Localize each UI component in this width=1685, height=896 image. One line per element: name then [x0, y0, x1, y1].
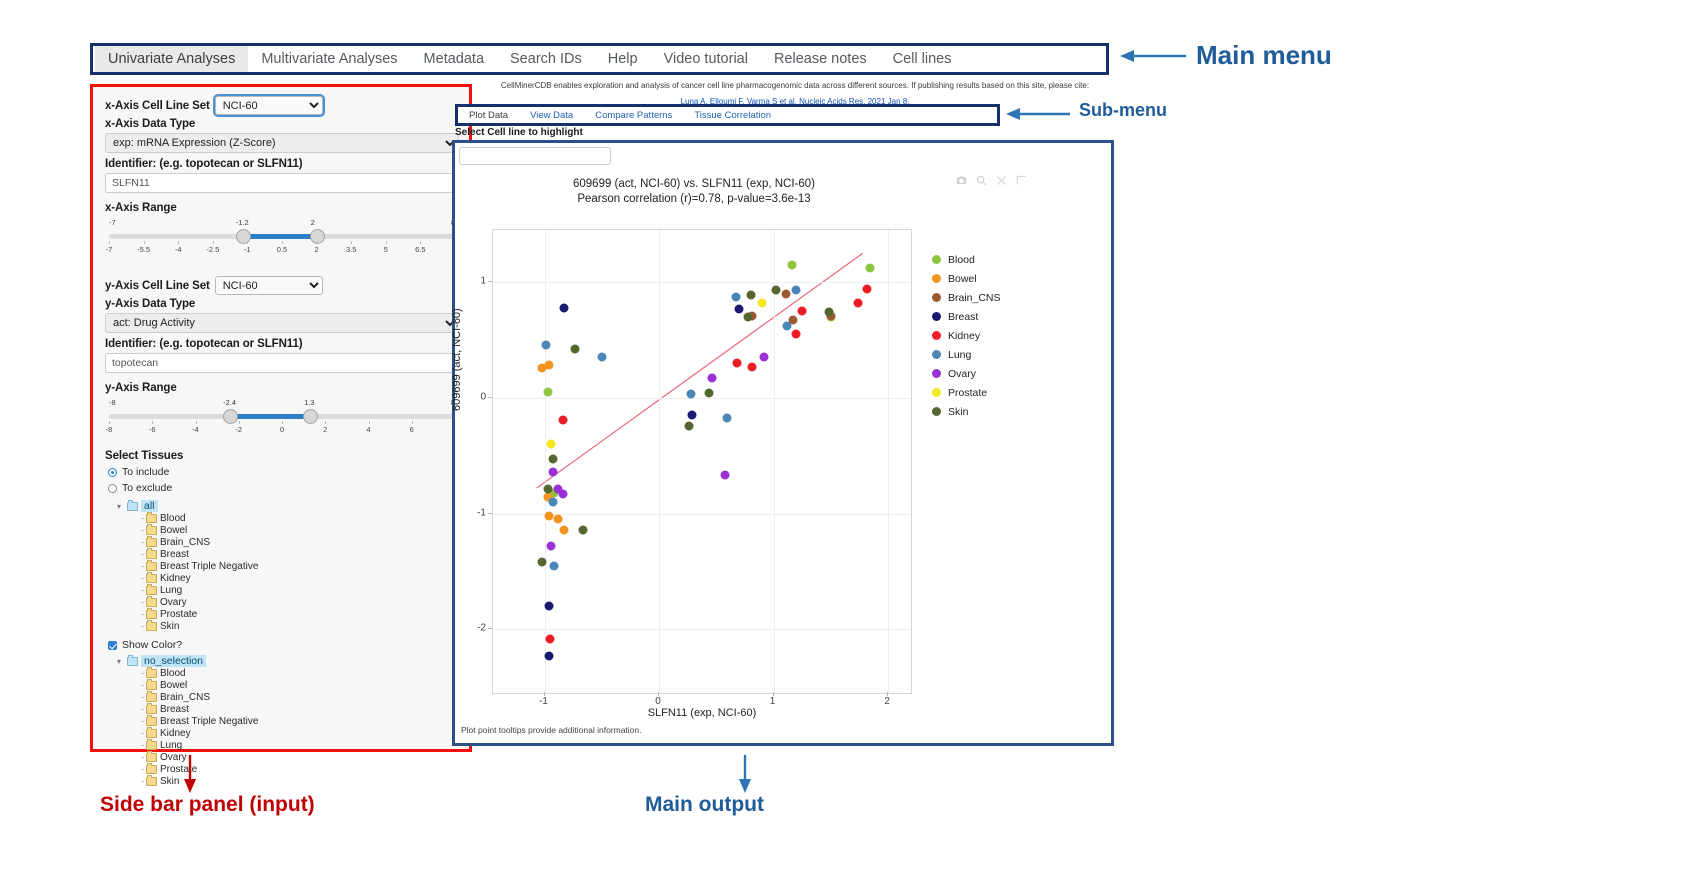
data-point-skin[interactable] [543, 485, 552, 494]
tree-root-label: all [141, 500, 158, 512]
folder-icon [146, 538, 157, 547]
arrow-sub-menu-icon [1006, 104, 1072, 124]
cell-line-highlight-input[interactable] [459, 147, 611, 165]
tree-branch-icon: - [141, 561, 143, 571]
x-axis-range-slider[interactable]: -78-1.22-7-5.5-4-2.5-10.523.556.58 [105, 218, 459, 262]
select-tissues-title: Select Tissues [105, 450, 459, 462]
x-axis-data-type-label: x-Axis Data Type [105, 118, 459, 130]
slider-tick-label: -4 [192, 425, 199, 434]
data-point-ovary[interactable] [760, 353, 769, 362]
y-tick-label: 0 [464, 391, 486, 402]
legend-color-swatch [932, 407, 941, 416]
data-point-lung[interactable] [783, 322, 792, 331]
x-tick-label: 0 [655, 696, 661, 707]
data-point-kidney[interactable] [546, 634, 555, 643]
x-tick-mark [544, 692, 545, 696]
tree-branch-icon: - [141, 740, 143, 750]
data-point-lung[interactable] [687, 390, 696, 399]
data-point-breast[interactable] [545, 651, 554, 660]
plot-area [492, 229, 912, 694]
menu-item-search-ids[interactable]: Search IDs [497, 46, 595, 72]
tree-item-label: Bowel [160, 525, 187, 536]
tree-branch-icon: - [141, 609, 143, 619]
sub-menu-item-compare-patterns[interactable]: Compare Patterns [584, 110, 683, 121]
tree-branch-icon: - [141, 549, 143, 559]
data-point-blood[interactable] [865, 264, 874, 273]
data-point-kidney[interactable] [747, 362, 756, 371]
slider-tick-label: -2 [235, 425, 242, 434]
x-tick-label: 1 [770, 696, 776, 707]
data-point-skin[interactable] [771, 286, 780, 295]
legend-item-breast[interactable]: Breast [932, 307, 1001, 326]
legend-color-swatch [932, 274, 941, 283]
folder-icon [146, 514, 157, 523]
y-axis-data-type-label: y-Axis Data Type [105, 298, 459, 310]
tree-branch-icon: - [141, 573, 143, 583]
data-point-skin[interactable] [571, 345, 580, 354]
legend-color-swatch [932, 255, 941, 264]
legend-label: Brain_CNS [948, 292, 1001, 304]
x-axis-identifier-input[interactable] [105, 173, 459, 193]
main-menu-bar: Univariate AnalysesMultivariate Analyses… [90, 43, 1109, 75]
legend-item-kidney[interactable]: Kidney [932, 326, 1001, 345]
tree-item-blood[interactable]: -Blood [141, 667, 459, 679]
x-axis-cell-line-set-row: x-Axis Cell Line Set NCI-60 [105, 96, 459, 115]
x-axis-identifier-label: Identifier: (e.g. topotecan or SLFN11) [105, 158, 459, 170]
slider-tick-label: 0.5 [277, 245, 287, 254]
folder-icon [146, 753, 157, 762]
tree-root-label: no_selection [141, 655, 206, 667]
y-axis-cell-line-set-select[interactable]: NCI-60 [215, 276, 323, 295]
tissue-tree[interactable]: ▾all-Blood-Bowel-Brain_CNS-Breast-Breast… [117, 500, 459, 632]
data-point-bowel[interactable] [545, 361, 554, 370]
tree-branch-icon: - [141, 776, 143, 786]
data-point-breast[interactable] [688, 411, 697, 420]
tree-item-label: Breast Triple Negative [160, 716, 258, 727]
tree-item-label: Skin [160, 776, 179, 787]
x-tick-label: 2 [884, 696, 890, 707]
tree-item-breast[interactable]: -Breast [141, 548, 459, 560]
folder-icon [146, 741, 157, 750]
radio-include-icon [108, 468, 117, 477]
folder-icon [146, 562, 157, 571]
folder-icon [146, 765, 157, 774]
tree-item-label: Blood [160, 668, 186, 679]
legend-color-swatch [932, 369, 941, 378]
tree-item-kidney[interactable]: -Kidney [141, 572, 459, 584]
folder-icon [146, 586, 157, 595]
data-point-lung[interactable] [722, 413, 731, 422]
tissue-tree-root[interactable]: ▾all [117, 500, 459, 512]
data-point-prostate[interactable] [547, 440, 556, 449]
data-point-skin[interactable] [538, 558, 547, 567]
folder-icon [146, 598, 157, 607]
tree-item-lung[interactable]: -Lung [141, 739, 459, 751]
tree-branch-icon: - [141, 597, 143, 607]
tree-item-breast-triple-negative[interactable]: -Breast Triple Negative [141, 560, 459, 572]
x-tick-mark [773, 692, 774, 696]
legend-color-swatch [932, 350, 941, 359]
show-color-checkbox[interactable]: Show Color? [108, 639, 459, 651]
scatter-plot: 609699 (act, NCI-60) vs. SLFN11 (exp, NC… [459, 171, 1107, 716]
data-point-skin[interactable] [746, 290, 755, 299]
tree-branch-icon: - [141, 680, 143, 690]
folder-icon [146, 669, 157, 678]
slider-tick-label: 3.5 [346, 245, 356, 254]
data-point-kidney[interactable] [798, 307, 807, 316]
data-point-ovary[interactable] [548, 467, 557, 476]
tree-item-kidney[interactable]: -Kidney [141, 727, 459, 739]
legend-label: Blood [948, 254, 975, 266]
data-point-blood[interactable] [543, 388, 552, 397]
tree-item-brain_cns[interactable]: -Brain_CNS [141, 536, 459, 548]
sub-menu-item-view-data[interactable]: View Data [519, 110, 584, 121]
data-point-breast[interactable] [560, 303, 569, 312]
folder-icon [127, 657, 138, 666]
folder-icon [146, 610, 157, 619]
tissue-include-label: To include [122, 466, 169, 478]
slider-tick-label: -5.5 [137, 245, 150, 254]
slider-tick-label: 6.5 [415, 245, 425, 254]
data-point-breast[interactable] [735, 304, 744, 313]
y-axis-cell-line-set-row: y-Axis Cell Line Set NCI-60 [105, 276, 459, 295]
tree-branch-icon: - [141, 621, 143, 631]
slider-fill [230, 414, 310, 419]
plot-title: 609699 (act, NCI-60) vs. SLFN11 (exp, NC… [459, 177, 929, 207]
tissue-include-radio[interactable]: To include [108, 466, 459, 478]
sub-menu-bar: Plot DataView DataCompare PatternsTissue… [455, 104, 1000, 126]
y-tick-mark [488, 281, 492, 282]
tree-branch-icon: - [141, 764, 143, 774]
data-point-ovary[interactable] [547, 541, 556, 550]
plot-note: Plot point tooltips provide additional i… [461, 725, 642, 735]
legend-item-ovary[interactable]: Ovary [932, 364, 1001, 383]
y-axis-data-type-select[interactable]: act: Drug Activity [105, 313, 459, 333]
sidebar-panel: x-Axis Cell Line Set NCI-60 x-Axis Data … [90, 84, 472, 752]
select-cell-line-label: Select Cell line to highlight [455, 127, 583, 138]
annotation-sidebar: Side bar panel (input) [100, 793, 315, 817]
tree-item-breast-triple-negative[interactable]: -Breast Triple Negative [141, 715, 459, 727]
legend-color-swatch [932, 388, 941, 397]
tree-item-ovary[interactable]: -Ovary [141, 596, 459, 608]
tree-branch-icon: - [141, 692, 143, 702]
data-point-skin[interactable] [705, 389, 714, 398]
slider-min-label: -7 [109, 218, 116, 227]
slider-tick-label: -1 [244, 245, 251, 254]
data-point-ovary[interactable] [721, 471, 730, 480]
tree-item-label: Kidney [160, 573, 191, 584]
slider-tick-label: -4 [175, 245, 182, 254]
legend-color-swatch [932, 312, 941, 321]
legend-label: Bowel [948, 273, 977, 285]
legend-item-brain_cns[interactable]: Brain_CNS [932, 288, 1001, 307]
legend-item-bowel[interactable]: Bowel [932, 269, 1001, 288]
slider-tick-label: -2.5 [206, 245, 219, 254]
folder-icon [146, 526, 157, 535]
tree-item-bowel[interactable]: -Bowel [141, 679, 459, 691]
tree-item-label: Bowel [160, 680, 187, 691]
y-tick-mark [488, 397, 492, 398]
slider-tick-label: 0 [280, 425, 284, 434]
tree-item-prostate[interactable]: -Prostate [141, 608, 459, 620]
folder-icon [146, 777, 157, 786]
legend-label: Skin [948, 406, 968, 418]
legend-color-swatch [932, 293, 941, 302]
y-axis-identifier-input[interactable] [105, 353, 459, 373]
tree-item-label: Lung [160, 740, 182, 751]
slider-value-low: -1.2 [236, 218, 249, 227]
slider-value-low: -2.4 [223, 398, 236, 407]
data-point-kidney[interactable] [792, 330, 801, 339]
color-tree-root[interactable]: ▾no_selection [117, 655, 459, 667]
x-axis-range-label: x-Axis Range [105, 202, 459, 214]
y-axis-identifier-label: Identifier: (e.g. topotecan or SLFN11) [105, 338, 459, 350]
plot-modebar[interactable] [956, 175, 1027, 186]
tree-item-brain_cns[interactable]: -Brain_CNS [141, 691, 459, 703]
tissue-exclude-label: To exclude [122, 482, 172, 494]
plot-legend[interactable]: BloodBowelBrain_CNSBreastKidneyLungOvary… [932, 250, 1001, 421]
data-point-lung[interactable] [548, 498, 557, 507]
sub-menu-item-plot-data[interactable]: Plot Data [458, 110, 519, 121]
data-point-prostate[interactable] [758, 298, 767, 307]
tree-item-label: Prostate [160, 609, 197, 620]
tree-item-bowel[interactable]: -Bowel [141, 524, 459, 536]
slider-tick-label: -8 [106, 425, 113, 434]
data-point-skin[interactable] [824, 308, 833, 317]
zoom-icon[interactable] [976, 175, 987, 186]
data-point-kidney[interactable] [558, 415, 567, 424]
plot-title-line2: Pearson correlation (r)=0.78, p-value=3.… [459, 192, 929, 207]
data-point-skin[interactable] [684, 421, 693, 430]
tree-branch-icon: - [141, 668, 143, 678]
folder-icon [146, 729, 157, 738]
legend-color-swatch [932, 331, 941, 340]
x-tick-mark [658, 692, 659, 696]
tree-branch-icon: - [141, 704, 143, 714]
data-point-lung[interactable] [792, 286, 801, 295]
data-point-bowel[interactable] [545, 511, 554, 520]
plot-title-line1: 609699 (act, NCI-60) vs. SLFN11 (exp, NC… [459, 177, 929, 192]
gridline-horizontal [493, 629, 911, 630]
y-tick-mark [488, 513, 492, 514]
data-point-lung[interactable] [541, 340, 550, 349]
arrow-sidebar-icon [180, 755, 200, 793]
x-tick-mark [887, 692, 888, 696]
expander-icon[interactable]: ▾ [117, 657, 124, 666]
tree-item-label: Skin [160, 621, 179, 632]
legend-label: Ovary [948, 368, 976, 380]
x-axis-cell-line-set-label: x-Axis Cell Line Set [105, 100, 210, 112]
slider-tick-label: -6 [149, 425, 156, 434]
checkbox-icon [108, 641, 117, 650]
y-axis-range-slider[interactable]: -88-2.41.3-8-6-4-202468 [105, 398, 459, 442]
show-color-label: Show Color? [122, 639, 182, 651]
expander-icon[interactable]: ▾ [117, 502, 124, 511]
data-point-bowel[interactable] [554, 515, 563, 524]
menu-item-metadata[interactable]: Metadata [411, 46, 497, 72]
citation-text: CellMinerCDB enables exploration and ana… [480, 80, 1110, 91]
slider-tick-label: -7 [106, 245, 113, 254]
main-output-panel: 609699 (act, NCI-60) vs. SLFN11 (exp, NC… [452, 140, 1114, 746]
data-point-skin[interactable] [548, 455, 557, 464]
gridline-horizontal [493, 398, 911, 399]
folder-icon [146, 550, 157, 559]
tree-item-label: Breast Triple Negative [160, 561, 258, 572]
trendline [493, 230, 913, 695]
autoscale-icon[interactable] [1016, 175, 1027, 186]
x-axis-label: SLFN11 (exp, NCI-60) [492, 707, 912, 719]
legend-label: Lung [948, 349, 971, 361]
annotation-sub-menu: Sub-menu [1079, 100, 1167, 121]
y-axis-range-label: y-Axis Range [105, 382, 459, 394]
slider-tick-label: 2 [323, 425, 327, 434]
tree-branch-icon: - [141, 585, 143, 595]
folder-icon [146, 693, 157, 702]
data-point-skin[interactable] [579, 525, 588, 534]
legend-item-blood[interactable]: Blood [932, 250, 1001, 269]
data-point-breast[interactable] [545, 602, 554, 611]
tree-item-label: Blood [160, 513, 186, 524]
slider-value-high: 2 [311, 218, 315, 227]
folder-icon [127, 502, 138, 511]
slider-tick-label: 2 [315, 245, 319, 254]
annotation-main-output: Main output [645, 793, 764, 817]
y-tick-mark [488, 628, 492, 629]
tree-item-skin[interactable]: -Skin [141, 620, 459, 632]
folder-icon [146, 574, 157, 583]
tree-item-label: Kidney [160, 728, 191, 739]
menu-item-univariate-analyses[interactable]: Univariate Analyses [95, 46, 248, 72]
y-tick-label: -2 [464, 623, 486, 634]
slider-tick-label: 4 [366, 425, 370, 434]
tree-item-lung[interactable]: -Lung [141, 584, 459, 596]
gridline-vertical [774, 230, 775, 693]
y-tick-label: -1 [464, 507, 486, 518]
slider-tick-label: 6 [410, 425, 414, 434]
arrow-main-menu-icon [1120, 46, 1188, 66]
legend-item-lung[interactable]: Lung [932, 345, 1001, 364]
y-axis-cell-line-set-label: y-Axis Cell Line Set [105, 280, 210, 292]
menu-item-release-notes[interactable]: Release notes [761, 46, 880, 72]
slider-tick-label: 5 [384, 245, 388, 254]
gridline-vertical [888, 230, 889, 693]
folder-icon [146, 717, 157, 726]
slider-fill [243, 234, 317, 239]
data-point-lung[interactable] [597, 353, 606, 362]
data-point-kidney[interactable] [732, 359, 741, 368]
tree-item-label: Lung [160, 585, 182, 596]
color-tree[interactable]: ▾no_selection-Blood-Bowel-Brain_CNS-Brea… [117, 655, 459, 787]
camera-icon[interactable] [956, 175, 967, 186]
legend-item-skin[interactable]: Skin [932, 402, 1001, 421]
folder-icon [146, 705, 157, 714]
data-point-bowel[interactable] [560, 525, 569, 534]
tree-item-label: Ovary [160, 597, 187, 608]
x-axis-data-type-select[interactable]: exp: mRNA Expression (Z-Score) [105, 133, 459, 153]
slider-value-high: 1.3 [304, 398, 314, 407]
menu-item-cell-lines[interactable]: Cell lines [880, 46, 965, 72]
y-axis-label: 609699 (act, NCI-60) [451, 308, 463, 411]
gridline-vertical [659, 230, 660, 693]
menu-item-multivariate-analyses[interactable]: Multivariate Analyses [248, 46, 410, 72]
tree-branch-icon: - [141, 716, 143, 726]
tree-branch-icon: - [141, 525, 143, 535]
tree-branch-icon: - [141, 752, 143, 762]
tree-branch-icon: - [141, 728, 143, 738]
folder-icon [146, 622, 157, 631]
menu-item-video-tutorial[interactable]: Video tutorial [651, 46, 761, 72]
data-point-ovary[interactable] [558, 489, 567, 498]
data-point-blood[interactable] [787, 260, 796, 269]
legend-label: Kidney [948, 330, 980, 342]
legend-item-prostate[interactable]: Prostate [932, 383, 1001, 402]
menu-item-help[interactable]: Help [595, 46, 651, 72]
tree-item-breast[interactable]: -Breast [141, 703, 459, 715]
tree-branch-icon: - [141, 513, 143, 523]
legend-label: Breast [948, 311, 978, 323]
y-tick-label: 1 [464, 276, 486, 287]
tree-item-label: Breast [160, 704, 189, 715]
tree-item-label: Breast [160, 549, 189, 560]
x-axis-cell-line-set-select[interactable]: NCI-60 [215, 96, 323, 115]
arrow-main-output-icon [735, 755, 755, 793]
tissue-exclude-radio[interactable]: To exclude [108, 482, 459, 494]
tree-item-blood[interactable]: -Blood [141, 512, 459, 524]
tree-branch-icon: - [141, 537, 143, 547]
annotation-main-menu: Main menu [1196, 40, 1332, 71]
legend-label: Prostate [948, 387, 987, 399]
data-point-lung[interactable] [731, 293, 740, 302]
gridline-horizontal [493, 282, 911, 283]
close-icon[interactable] [996, 175, 1007, 186]
folder-icon [146, 681, 157, 690]
gridline-vertical [545, 230, 546, 693]
slider-min-label: -8 [109, 398, 116, 407]
tree-item-label: Brain_CNS [160, 537, 210, 548]
sub-menu-item-tissue-correlation[interactable]: Tissue Correlation [683, 110, 782, 121]
data-point-brain_cns[interactable] [782, 289, 791, 298]
x-tick-label: -1 [539, 696, 548, 707]
radio-exclude-icon [108, 484, 117, 493]
data-point-kidney[interactable] [854, 298, 863, 307]
data-point-kidney[interactable] [863, 285, 872, 294]
data-point-skin[interactable] [744, 312, 753, 321]
tree-item-label: Brain_CNS [160, 692, 210, 703]
data-point-ovary[interactable] [707, 374, 716, 383]
data-point-lung[interactable] [549, 561, 558, 570]
